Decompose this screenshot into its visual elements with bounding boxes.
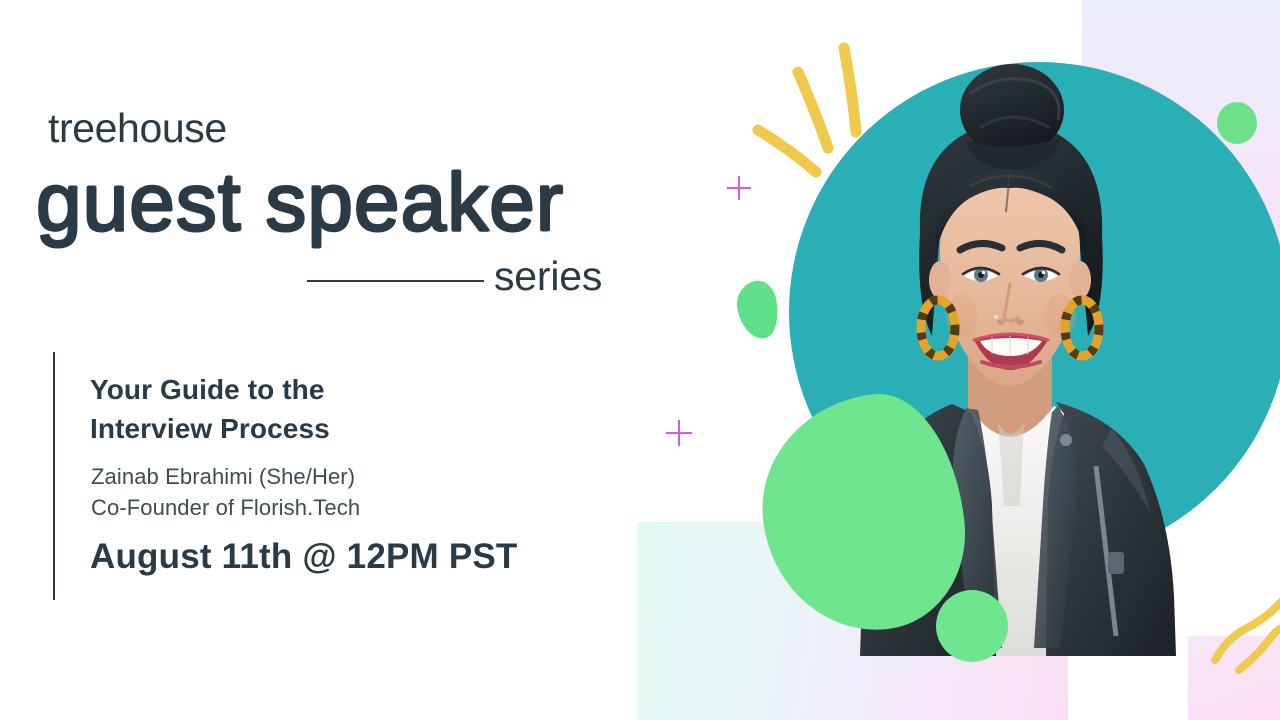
headline-outline-text: guest speaker <box>36 160 564 246</box>
series-divider-rule <box>307 280 484 282</box>
event-datetime: August 11th @ 12PM PST <box>90 536 518 578</box>
brand-wordmark: treehouse <box>48 108 227 149</box>
green-dot-bottom <box>936 590 1008 662</box>
magenta-plus-icon-upper <box>727 176 751 200</box>
speaker-role: Co-Founder of Florish.Tech <box>91 493 360 522</box>
guest-speaker-promo-poster: treehouse guest speaker series Your Guid… <box>0 0 1280 720</box>
yellow-sparkle-strokes <box>740 30 900 190</box>
green-blob-small <box>732 277 783 342</box>
magenta-plus-icon-lower <box>666 420 692 446</box>
speaker-name: Zainab Ebrahimi (She/Her) <box>91 462 355 491</box>
series-label: series <box>494 256 602 297</box>
talk-title: Your Guide to the Interview Process <box>90 370 330 448</box>
yellow-wave-strokes <box>1165 578 1280 688</box>
detail-accent-bar <box>53 352 55 600</box>
